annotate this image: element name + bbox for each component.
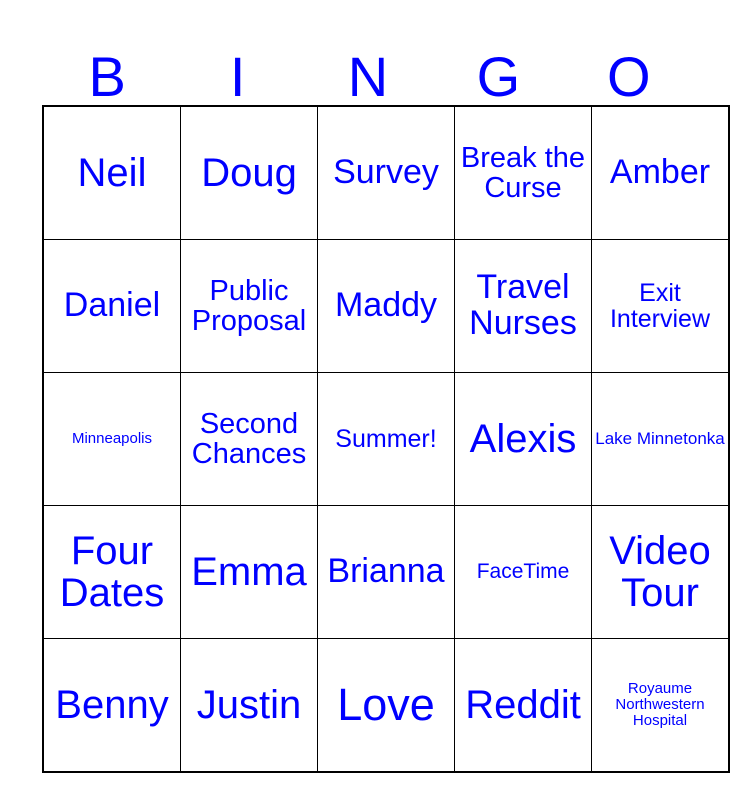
bingo-cell[interactable]: Public Proposal (181, 240, 318, 373)
bingo-cell[interactable]: Travel Nurses (455, 240, 592, 373)
bingo-cell[interactable]: Benny (43, 639, 181, 773)
bingo-header-row: B I N G O (42, 30, 694, 105)
bingo-cell[interactable]: Neil (43, 106, 181, 240)
bingo-cell[interactable]: Reddit (455, 639, 592, 773)
bingo-cell[interactable]: Brianna (318, 506, 455, 639)
bingo-cell[interactable]: Survey (318, 106, 455, 240)
bingo-cell[interactable]: Four Dates (43, 506, 181, 639)
bingo-row: Four Dates Emma Brianna FaceTime Video T… (43, 506, 729, 639)
bingo-row: Benny Justin Love Reddit Royaume Northwe… (43, 639, 729, 773)
bingo-row: Minneapolis Second Chances Summer! Alexi… (43, 373, 729, 506)
bingo-cell[interactable]: Minneapolis (43, 373, 181, 506)
bingo-header-letter-b: B (42, 49, 172, 105)
bingo-cell[interactable]: Royaume Northwestern Hospital (592, 639, 730, 773)
bingo-cell[interactable]: Emma (181, 506, 318, 639)
bingo-cell[interactable]: Summer! (318, 373, 455, 506)
bingo-cell[interactable]: Doug (181, 106, 318, 240)
bingo-cell[interactable]: Second Chances (181, 373, 318, 506)
bingo-cell[interactable]: Love (318, 639, 455, 773)
bingo-cell[interactable]: Maddy (318, 240, 455, 373)
bingo-cell[interactable]: Exit Interview (592, 240, 730, 373)
bingo-cell[interactable]: FaceTime (455, 506, 592, 639)
bingo-header-letter-g: G (433, 49, 563, 105)
bingo-row: Daniel Public Proposal Maddy Travel Nurs… (43, 240, 729, 373)
bingo-header-letter-i: I (172, 49, 302, 105)
bingo-card: B I N G O Neil Doug Survey Break the Cur… (42, 30, 694, 773)
bingo-cell[interactable]: Justin (181, 639, 318, 773)
bingo-cell[interactable]: Daniel (43, 240, 181, 373)
bingo-cell[interactable]: Video Tour (592, 506, 730, 639)
bingo-header-letter-n: N (303, 49, 433, 105)
bingo-grid: Neil Doug Survey Break the Curse Amber D… (42, 105, 730, 773)
bingo-row: Neil Doug Survey Break the Curse Amber (43, 106, 729, 240)
bingo-cell[interactable]: Lake Minnetonka (592, 373, 730, 506)
bingo-cell[interactable]: Break the Curse (455, 106, 592, 240)
bingo-header-letter-o: O (564, 49, 694, 105)
bingo-cell[interactable]: Alexis (455, 373, 592, 506)
bingo-cell[interactable]: Amber (592, 106, 730, 240)
